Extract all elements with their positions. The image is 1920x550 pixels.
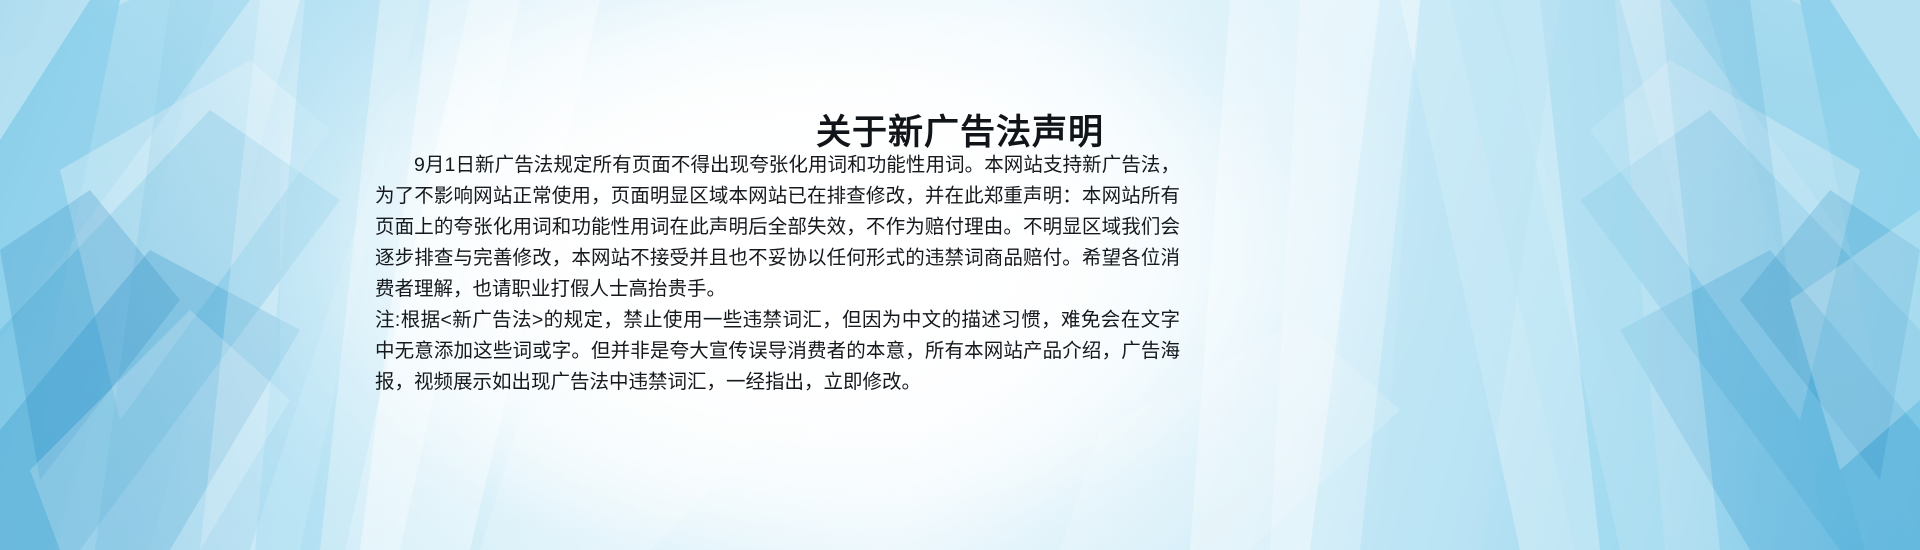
page-title: 关于新广告法声明 xyxy=(0,111,1920,155)
notice-paragraph-1: 9月1日新广告法规定所有页面不得出现夸张化用词和功能性用词。本网站支持新广告法，… xyxy=(375,150,1180,305)
notice-paragraph-2: 注:根据<新广告法>的规定，禁止使用一些违禁词汇，但因为中文的描述习惯，难免会在… xyxy=(375,305,1180,398)
notice-body: 9月1日新广告法规定所有页面不得出现夸张化用词和功能性用词。本网站支持新广告法，… xyxy=(375,150,1180,398)
notice-content: 关于新广告法声明 9月1日新广告法规定所有页面不得出现夸张化用词和功能性用词。本… xyxy=(0,0,1920,550)
notice-banner: 关于新广告法声明 9月1日新广告法规定所有页面不得出现夸张化用词和功能性用词。本… xyxy=(0,0,1920,550)
